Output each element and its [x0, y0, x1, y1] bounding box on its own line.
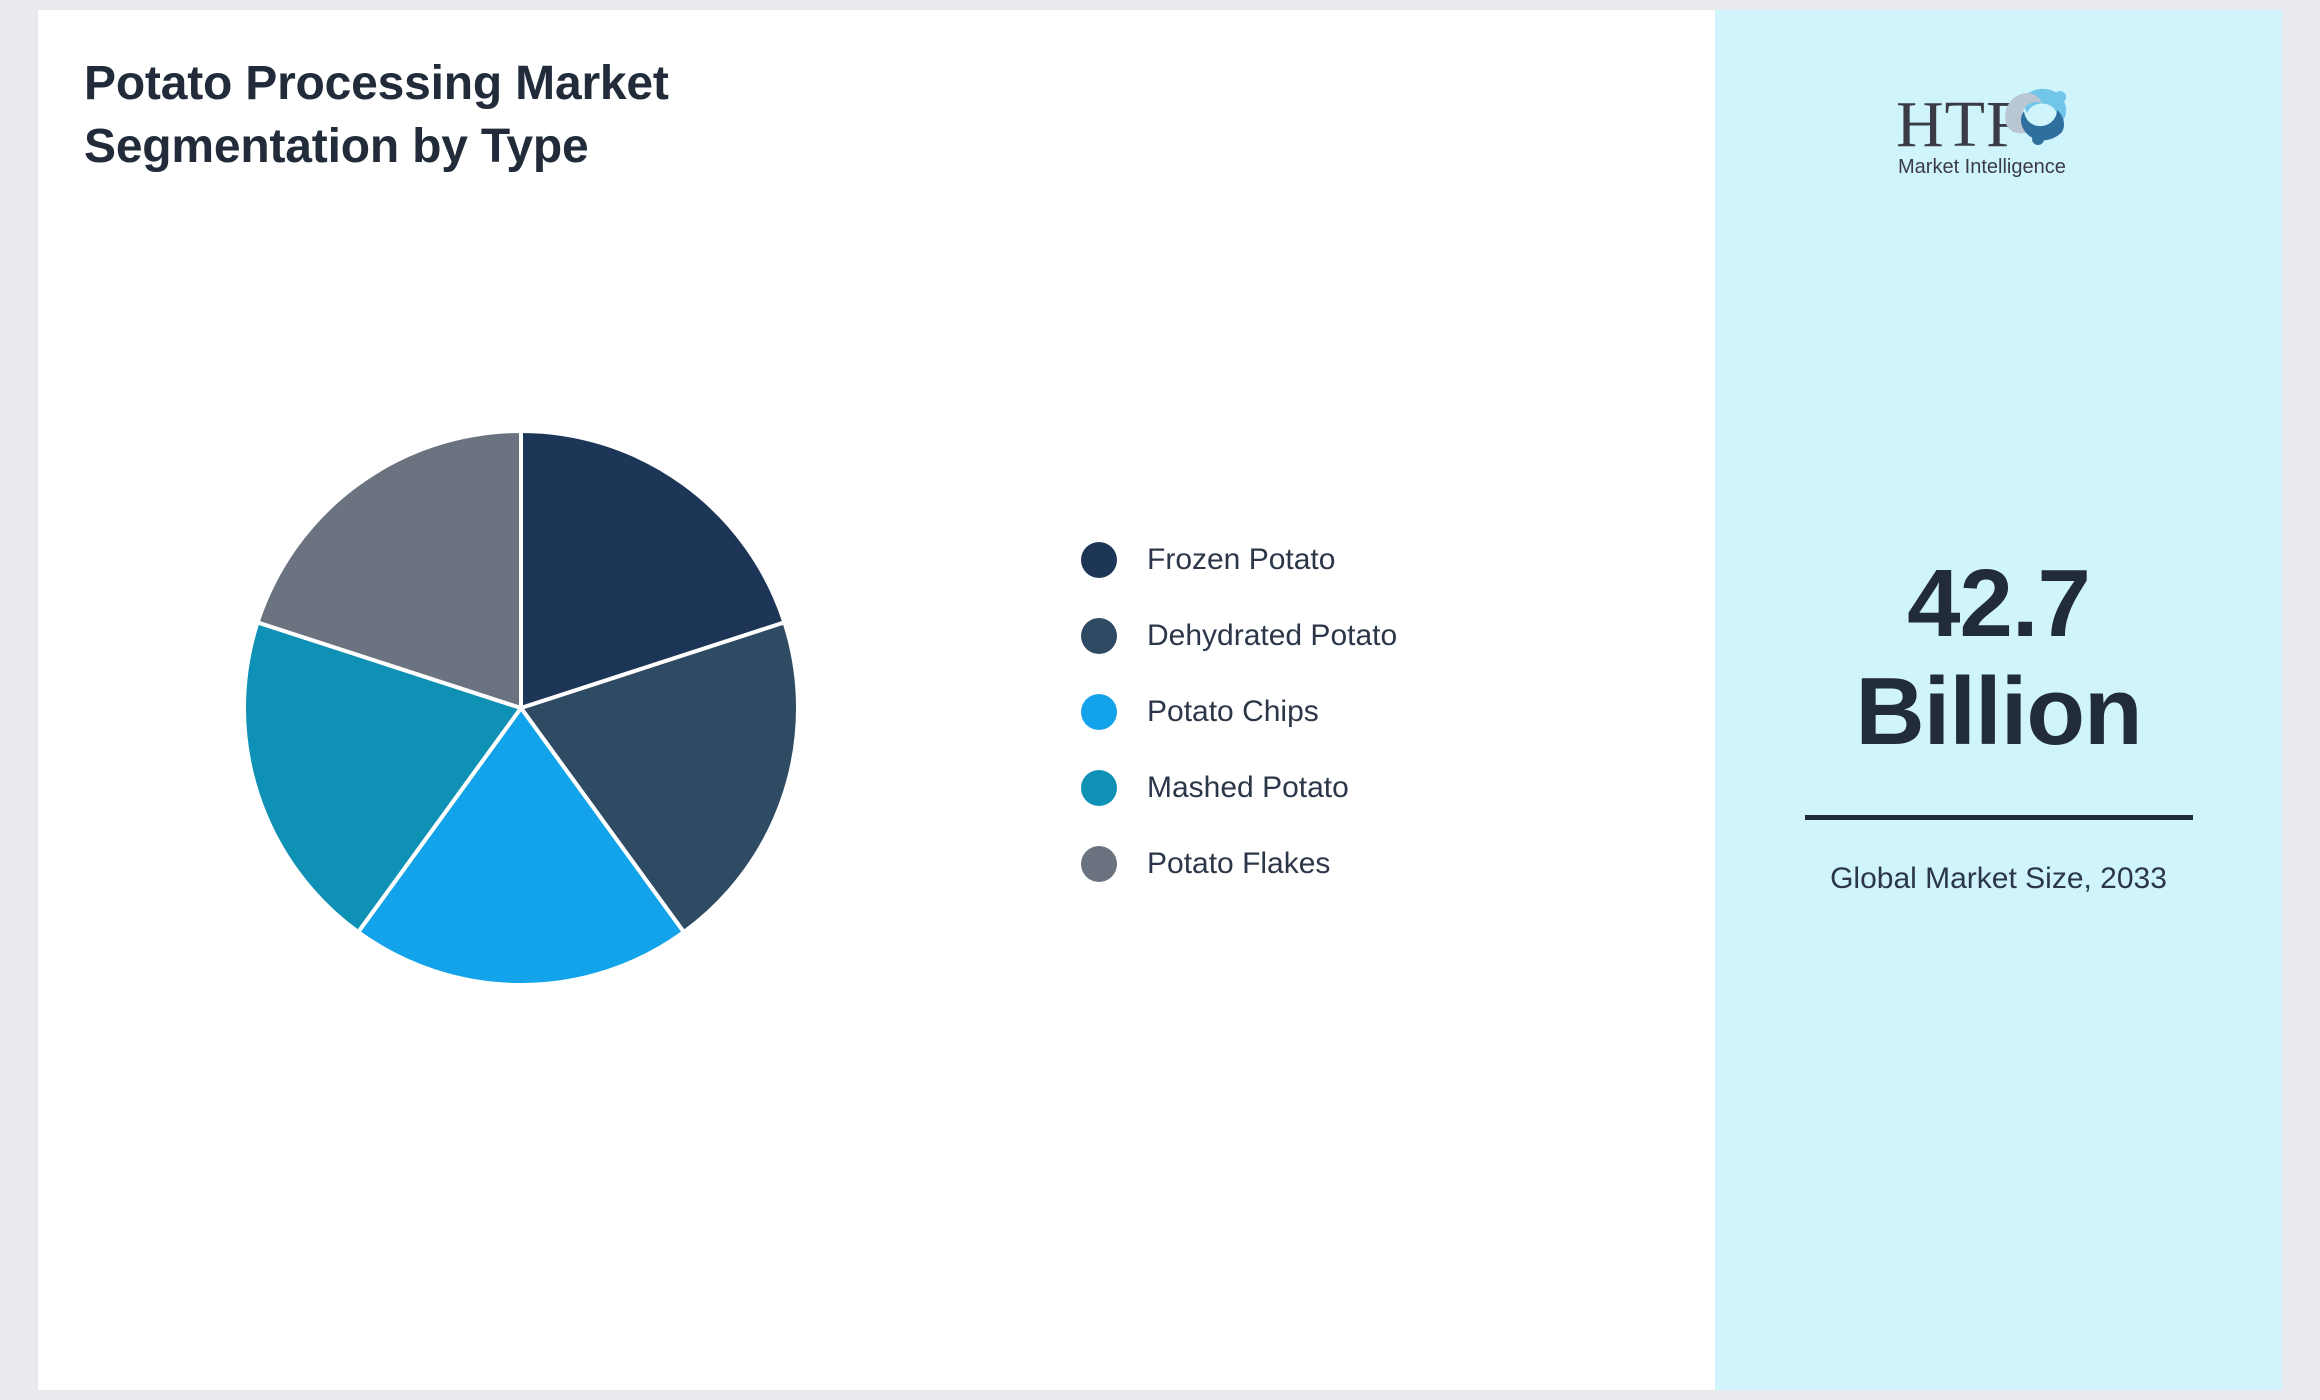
legend-swatch-icon — [1081, 618, 1117, 654]
legend-item-potato-flakes[interactable]: Potato Flakes — [1081, 826, 1397, 902]
legend-swatch-icon — [1081, 770, 1117, 806]
legend-swatch-icon — [1081, 542, 1117, 578]
htf-market-intelligence-logo-icon: HTF Market Intelligence — [1884, 72, 2114, 180]
svg-text:HTF: HTF — [1896, 88, 2024, 161]
stat-block: 42.7 Billion Global Market Size, 2033 — [1715, 550, 2282, 899]
legend-item-potato-chips[interactable]: Potato Chips — [1081, 674, 1397, 750]
legend-item-frozen-potato[interactable]: Frozen Potato — [1081, 522, 1397, 598]
legend-swatch-icon — [1081, 694, 1117, 730]
stat-divider — [1805, 815, 2193, 820]
legend-swatch-icon — [1081, 846, 1117, 882]
legend-label: Dehydrated Potato — [1147, 619, 1397, 653]
stat-panel: HTF Market Intelligence — [1715, 10, 2282, 1390]
stat-value-line1: 42.7 — [1715, 550, 2282, 658]
chart-legend: Frozen Potato Dehydrated Potato Potato C… — [1081, 522, 1397, 902]
stat-value-line2: Billion — [1715, 658, 2282, 766]
pie-chart — [244, 431, 798, 985]
legend-label: Potato Chips — [1147, 695, 1319, 729]
svg-text:Market Intelligence: Market Intelligence — [1898, 156, 2066, 178]
legend-item-dehydrated-potato[interactable]: Dehydrated Potato — [1081, 598, 1397, 674]
legend-label: Potato Flakes — [1147, 847, 1330, 881]
infographic-canvas: Potato Processing Market Segmentation by… — [0, 0, 2320, 1400]
chart-panel: Potato Processing Market Segmentation by… — [38, 10, 1715, 1390]
legend-item-mashed-potato[interactable]: Mashed Potato — [1081, 750, 1397, 826]
infographic-card: Potato Processing Market Segmentation by… — [38, 10, 2282, 1390]
pie-chart-svg — [244, 431, 798, 985]
stat-caption: Global Market Size, 2033 — [1829, 858, 2169, 899]
legend-label: Frozen Potato — [1147, 543, 1335, 577]
page-title: Potato Processing Market Segmentation by… — [84, 52, 984, 179]
legend-label: Mashed Potato — [1147, 771, 1349, 805]
htf-logo[interactable]: HTF Market Intelligence — [1884, 72, 2114, 180]
